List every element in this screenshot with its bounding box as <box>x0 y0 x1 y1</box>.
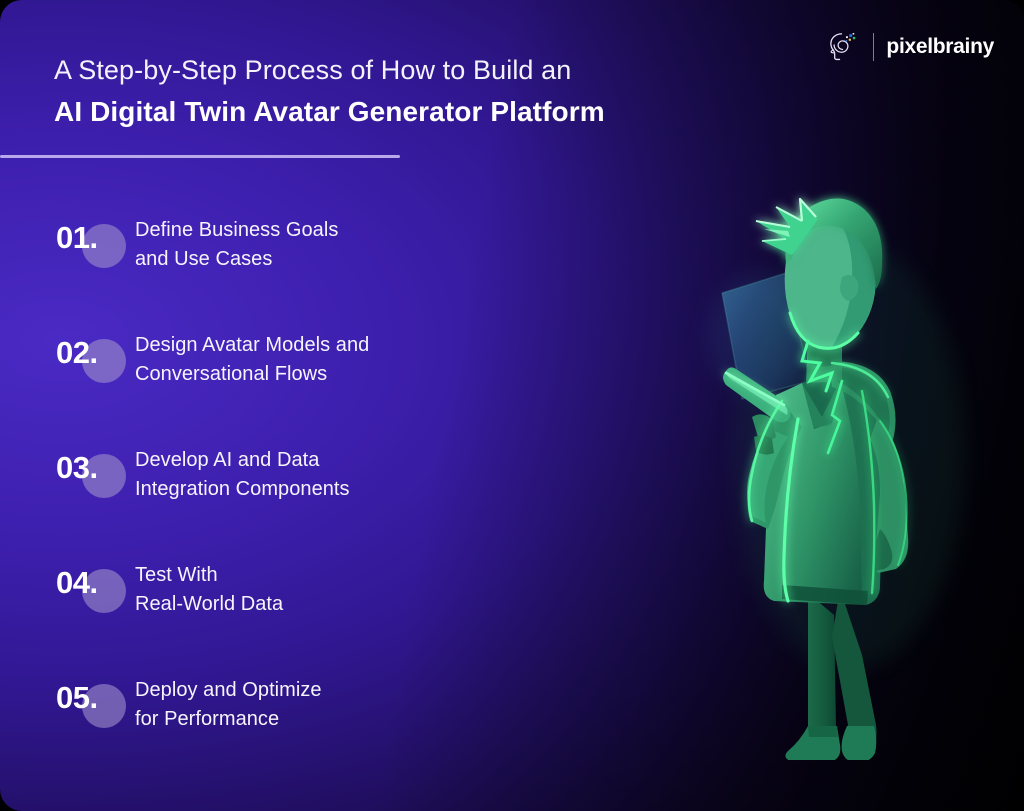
list-item: 05. Deploy and Optimize for Performance <box>56 666 526 781</box>
step-text: Develop AI and Data Integration Componen… <box>135 446 515 504</box>
step-text: Deploy and Optimize for Performance <box>135 676 515 734</box>
step-text-line-2: Conversational Flows <box>135 360 515 389</box>
infographic-canvas: pixelbrainy A Step-by-Step Process of Ho… <box>0 0 1024 811</box>
logo-divider <box>873 33 875 61</box>
steps-list: 01. Define Business Goals and Use Cases … <box>56 206 526 781</box>
step-number-badge: 03. <box>56 444 128 500</box>
step-number-badge: 05. <box>56 674 128 730</box>
step-text-line-1: Define Business Goals <box>135 216 515 245</box>
step-text-line-2: for Performance <box>135 705 515 734</box>
step-text-line-2: Integration Components <box>135 475 515 504</box>
list-item: 04. Test With Real-World Data <box>56 551 526 666</box>
step-number-label: 03. <box>56 444 98 492</box>
title-divider-rule <box>0 155 400 158</box>
step-text: Test With Real-World Data <box>135 561 515 619</box>
step-number-label: 04. <box>56 559 98 607</box>
list-item: 03. Develop AI and Data Integration Comp… <box>56 436 526 551</box>
step-text-line-2: and Use Cases <box>135 245 515 274</box>
step-text-line-1: Deploy and Optimize <box>135 676 515 705</box>
page-title: A Step-by-Step Process of How to Build a… <box>54 52 605 131</box>
list-item: 01. Define Business Goals and Use Cases <box>56 206 526 321</box>
step-number-label: 05. <box>56 674 98 722</box>
step-text: Define Business Goals and Use Cases <box>135 216 515 274</box>
step-number-badge: 02. <box>56 329 128 385</box>
step-text-line-2: Real-World Data <box>135 590 515 619</box>
step-text-line-1: Design Avatar Models and <box>135 331 515 360</box>
step-number-label: 02. <box>56 329 98 377</box>
step-number-label: 01. <box>56 214 98 262</box>
step-text: Design Avatar Models and Conversational … <box>135 331 515 389</box>
step-number-badge: 01. <box>56 214 128 270</box>
title-line-1: A Step-by-Step Process of How to Build a… <box>54 52 605 88</box>
list-item: 02. Design Avatar Models and Conversatio… <box>56 321 526 436</box>
holographic-person-illustration <box>690 185 1010 760</box>
brand-logo[interactable]: pixelbrainy <box>823 28 994 66</box>
step-number-badge: 04. <box>56 559 128 615</box>
brand-wordmark: pixelbrainy <box>886 35 994 59</box>
brain-head-spiral-icon <box>823 28 861 66</box>
title-line-2: AI Digital Twin Avatar Generator Platfor… <box>54 93 605 131</box>
step-text-line-1: Develop AI and Data <box>135 446 515 475</box>
step-text-line-1: Test With <box>135 561 515 590</box>
